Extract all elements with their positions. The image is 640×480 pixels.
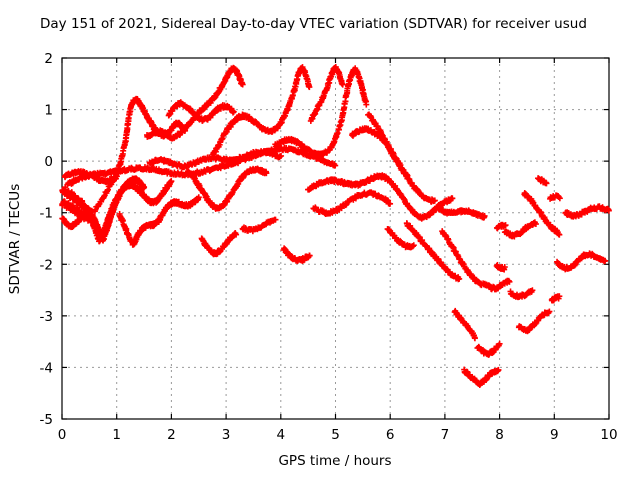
data-series [92,96,188,214]
y-tick-labels: -5-4-3-2-1012 [40,51,53,428]
x-tick-label: 9 [550,427,559,443]
data-series [144,65,246,142]
x-tick-label: 0 [58,427,67,443]
data-series [494,262,508,273]
data-series [452,308,478,341]
chart-root: Day 151 of 2021, Sidereal Day-to-day VTE… [0,0,640,480]
data-series [434,204,488,220]
data-series [502,219,539,239]
data-series [480,278,512,293]
data-series [549,293,563,303]
y-tick-label: -2 [40,257,53,273]
data-series [240,217,279,235]
x-tick-label: 1 [112,427,121,443]
y-tick-label: -3 [40,309,53,325]
y-tick-label: 1 [44,103,53,119]
x-tick-label: 7 [441,427,450,443]
y-tick-label: 0 [44,154,53,170]
y-axis-title: SDTVAR / TECUs [7,184,23,294]
x-tick-label: 4 [277,427,286,443]
x-axis-title: GPS time / hours [278,453,391,469]
data-series [535,175,549,186]
y-tick-label: -5 [40,412,53,428]
y-tick-label: -4 [40,360,53,376]
data-series [547,192,563,202]
data-series [508,287,536,300]
x-tick-label: 3 [222,427,231,443]
data-series [365,111,410,179]
data-series [281,245,313,264]
data-series [562,203,611,219]
data-series [461,367,501,388]
chart-canvas: 012345678910 -5-4-3-2-1012 GPS time / ho… [0,0,640,480]
x-tick-label: 8 [495,427,504,443]
data-series [554,250,608,272]
x-tick-labels: 012345678910 [58,427,618,443]
x-tick-label: 5 [331,427,340,443]
data-series [59,178,174,244]
y-tick-label: -1 [40,206,53,222]
data-series [474,341,502,358]
x-tick-label: 6 [386,427,395,443]
data-series [516,309,552,335]
plot-svg: 012345678910 -5-4-3-2-1012 GPS time / ho… [0,0,640,480]
x-tick-label: 10 [600,427,617,443]
x-tick-label: 2 [167,427,176,443]
y-tick-label: 2 [44,51,53,67]
data-series [199,230,239,257]
